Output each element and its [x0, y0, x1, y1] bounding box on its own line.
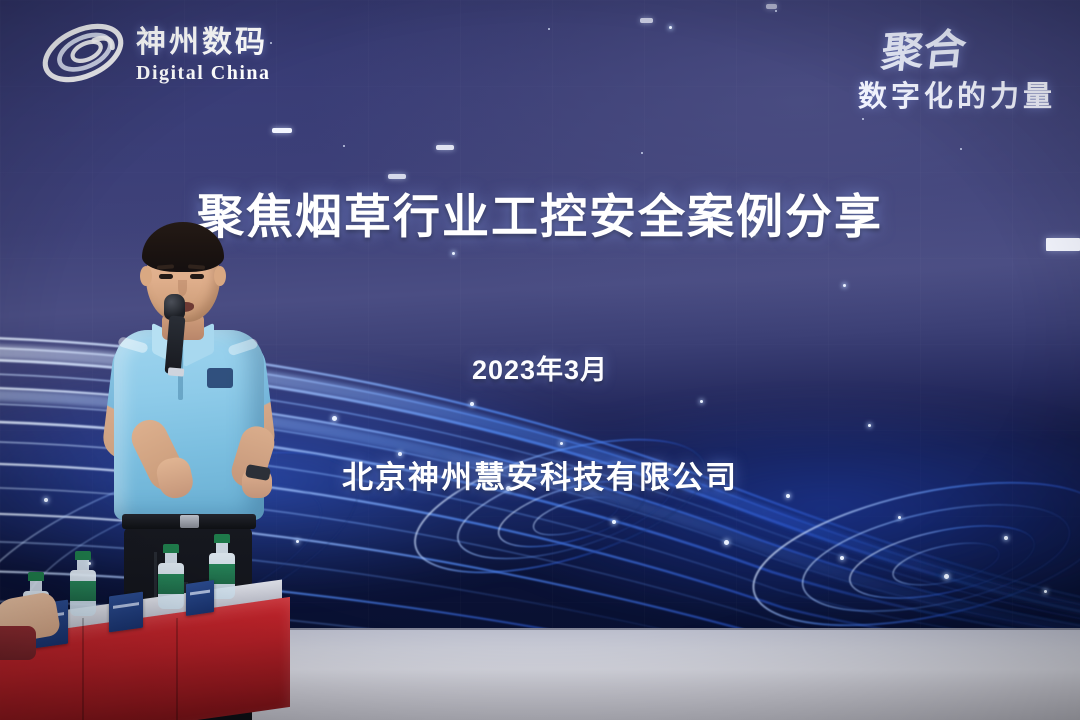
placard-text-line [190, 590, 210, 596]
name-placard [109, 592, 143, 633]
nose [178, 280, 187, 296]
water-bottle [158, 544, 184, 609]
speaker-hair [142, 222, 224, 272]
bottle-neck [30, 581, 42, 591]
bottle-body [158, 563, 184, 609]
bottle-label [70, 581, 96, 601]
bottle-label [158, 574, 184, 594]
bottle-neck [77, 560, 89, 570]
event-slogan: 聚合 数字化的力量 [858, 18, 1056, 115]
chest-logo-icon [207, 368, 233, 388]
bottle-neck [216, 543, 228, 553]
brand-name-en: Digital China [136, 63, 271, 83]
placard-text-line [113, 602, 139, 609]
ear-left [140, 266, 152, 286]
bottle-cap [28, 572, 44, 581]
skirt-fold [82, 618, 84, 720]
attendee-sleeve [0, 626, 36, 660]
bottle-cap [75, 551, 91, 560]
slogan-calligraphy: 聚合 [854, 15, 969, 82]
panel-table [0, 556, 290, 720]
bottle-body [70, 570, 96, 616]
microphone-band [168, 367, 185, 376]
bottle-cap [214, 534, 230, 543]
skirt-fold [176, 618, 178, 720]
eye-right [190, 274, 204, 279]
name-placard [186, 580, 214, 616]
ear-right [214, 266, 226, 286]
belt-buckle [180, 515, 199, 528]
eye-left [159, 274, 173, 279]
brand-name-cn: 神州数码 [136, 28, 271, 58]
spiral-swirl-icon [40, 22, 126, 84]
bottle-neck [165, 553, 177, 563]
stage-photo: 神州数码 Digital China 聚合 数字化的力量 聚焦烟草行业工控安全案… [0, 0, 1080, 720]
bottle-cap [163, 544, 179, 553]
digital-china-logo: 神州数码 Digital China [40, 22, 271, 84]
water-bottle [70, 551, 96, 616]
